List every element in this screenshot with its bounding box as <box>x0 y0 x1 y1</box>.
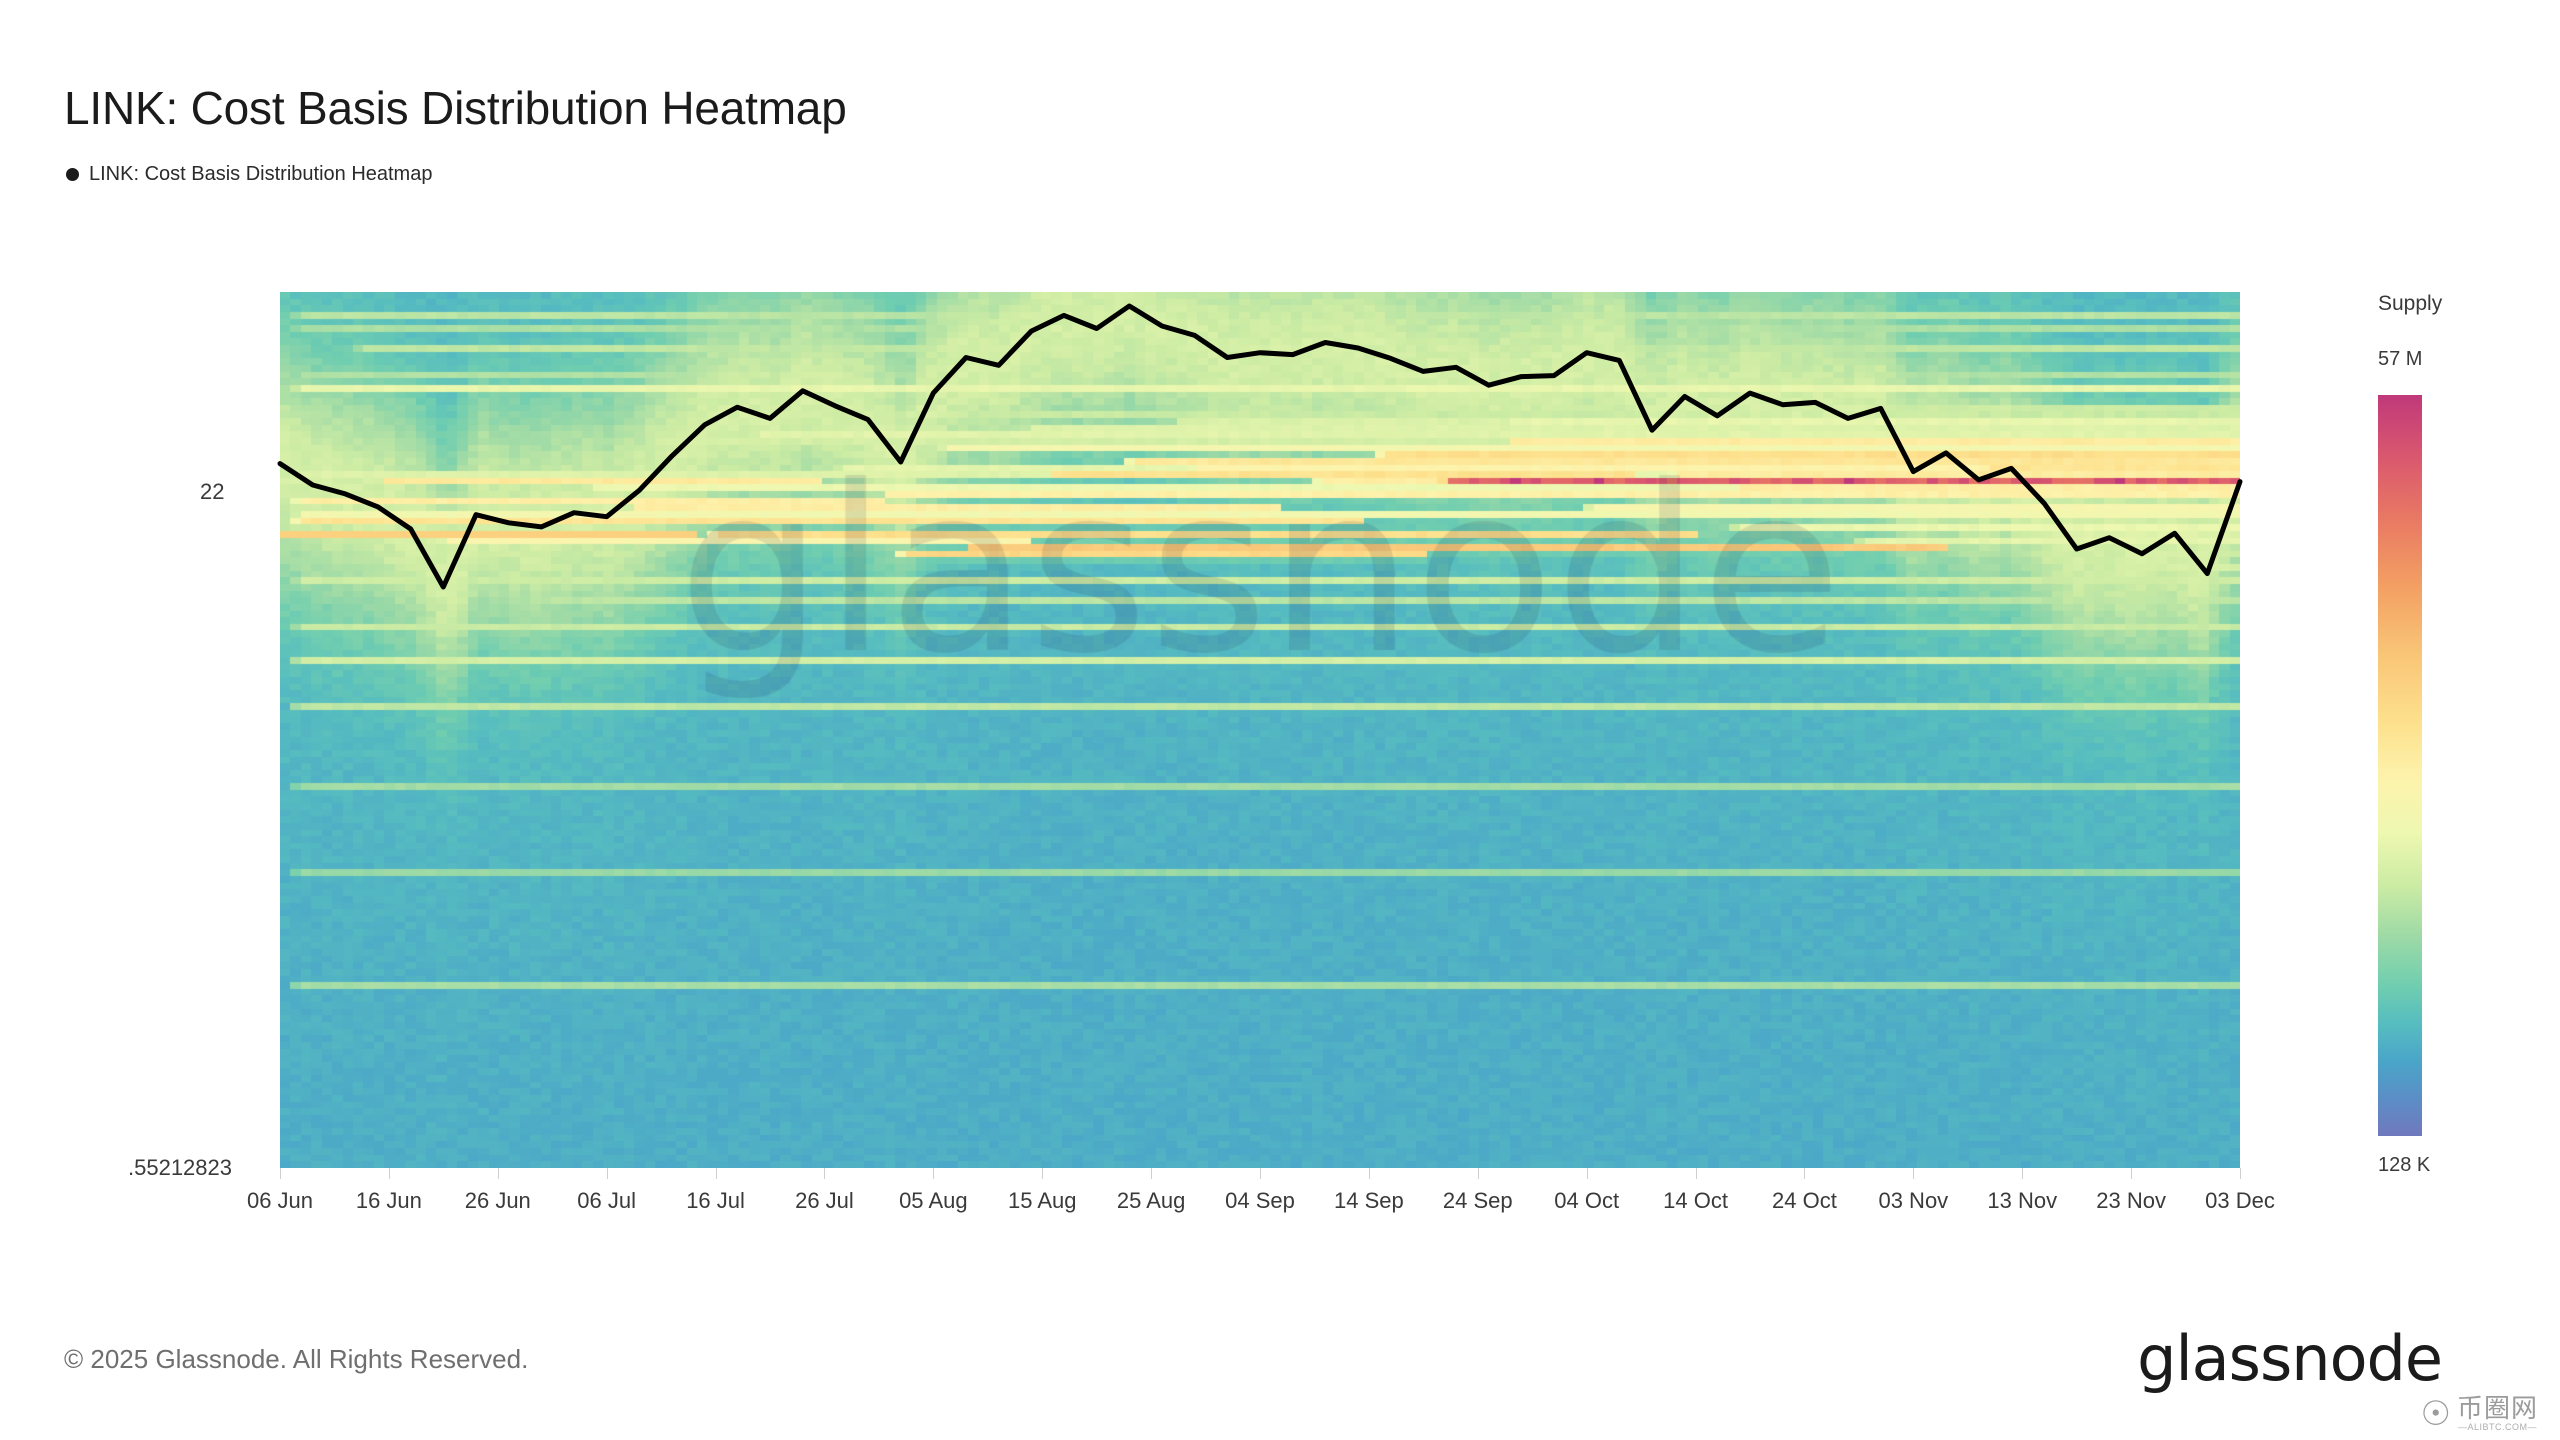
colorbar-legend: Supply 57 M 128 K <box>2378 292 2548 1202</box>
glassnode-logo: glassnode <box>2137 1322 2442 1395</box>
x-axis-tick-label: 04 Oct <box>1554 1188 1619 1214</box>
colorbar-gradient <box>2378 395 2422 1136</box>
x-axis-tick-label: 14 Sep <box>1334 1188 1404 1214</box>
x-axis-tick-label: 04 Sep <box>1225 1188 1295 1214</box>
x-axis-tick <box>389 1168 390 1179</box>
footer-copyright: © 2025 Glassnode. All Rights Reserved. <box>64 1344 528 1375</box>
x-axis-tick <box>498 1168 499 1179</box>
x-axis-tick-label: 03 Dec <box>2205 1188 2275 1214</box>
watermark-text-group: 币圈网 —ALIBTC.COM— <box>2457 1395 2538 1432</box>
watermark-cn-label: 币圈网 <box>2457 1395 2538 1422</box>
x-axis-tick-label: 03 Nov <box>1878 1188 1948 1214</box>
y-axis-tick-label-top: 22 <box>200 479 224 505</box>
x-axis-tick <box>1260 1168 1261 1179</box>
x-axis-tick-label: 06 Jul <box>577 1188 636 1214</box>
x-axis-tick-label: 06 Jun <box>247 1188 313 1214</box>
x-axis-tick-label: 24 Sep <box>1443 1188 1513 1214</box>
x-axis-tick <box>2022 1168 2023 1179</box>
x-axis-tick <box>1804 1168 1805 1179</box>
x-axis-tick <box>1913 1168 1914 1179</box>
x-axis-tick-label: 05 Aug <box>899 1188 968 1214</box>
x-axis-tick <box>1587 1168 1588 1179</box>
x-axis-tick <box>933 1168 934 1179</box>
x-axis-tick <box>1478 1168 1479 1179</box>
site-watermark: ☉ 币圈网 —ALIBTC.COM— <box>2421 1395 2539 1432</box>
heatmap-plot-area[interactable] <box>280 292 2240 1168</box>
legend-series-label: LINK: Cost Basis Distribution Heatmap <box>89 163 432 186</box>
price-line-overlay <box>280 292 2240 1168</box>
x-axis-tick-label: 26 Jul <box>795 1188 854 1214</box>
x-axis-tick-label: 23 Nov <box>2096 1188 2166 1214</box>
x-axis-tick <box>1369 1168 1370 1179</box>
x-axis-tick <box>1151 1168 1152 1179</box>
x-axis-tick-label: 16 Jun <box>356 1188 422 1214</box>
x-axis-tick <box>1696 1168 1697 1179</box>
colorbar-title: Supply <box>2378 292 2442 316</box>
colorbar-min-label: 128 K <box>2378 1154 2430 1177</box>
y-axis-tick-label-bottom: .55212823 <box>128 1155 232 1181</box>
x-axis-tick <box>2131 1168 2132 1179</box>
x-axis-tick <box>1042 1168 1043 1179</box>
x-axis-tick <box>716 1168 717 1179</box>
x-axis-tick <box>2240 1168 2241 1179</box>
watermark-logo-icon: ☉ <box>2421 1397 2451 1431</box>
x-axis-tick-label: 16 Jul <box>686 1188 745 1214</box>
x-axis-tick <box>280 1168 281 1179</box>
x-axis-tick-label: 26 Jun <box>465 1188 531 1214</box>
x-axis-tick <box>824 1168 825 1179</box>
page-title: LINK: Cost Basis Distribution Heatmap <box>64 81 847 135</box>
chart-legend[interactable]: LINK: Cost Basis Distribution Heatmap <box>66 163 432 186</box>
x-axis-tick-label: 13 Nov <box>1987 1188 2057 1214</box>
legend-dot-icon <box>66 168 79 181</box>
x-axis: 06 Jun16 Jun26 Jun06 Jul16 Jul26 Jul05 A… <box>280 1168 2240 1238</box>
x-axis-tick-label: 24 Oct <box>1772 1188 1837 1214</box>
x-axis-tick-label: 25 Aug <box>1117 1188 1186 1214</box>
price-line-path <box>280 306 2240 587</box>
watermark-url-label: —ALIBTC.COM— <box>2458 1423 2537 1432</box>
colorbar-max-label: 57 M <box>2378 348 2422 371</box>
x-axis-tick-label: 15 Aug <box>1008 1188 1077 1214</box>
x-axis-tick <box>607 1168 608 1179</box>
x-axis-tick-label: 14 Oct <box>1663 1188 1728 1214</box>
